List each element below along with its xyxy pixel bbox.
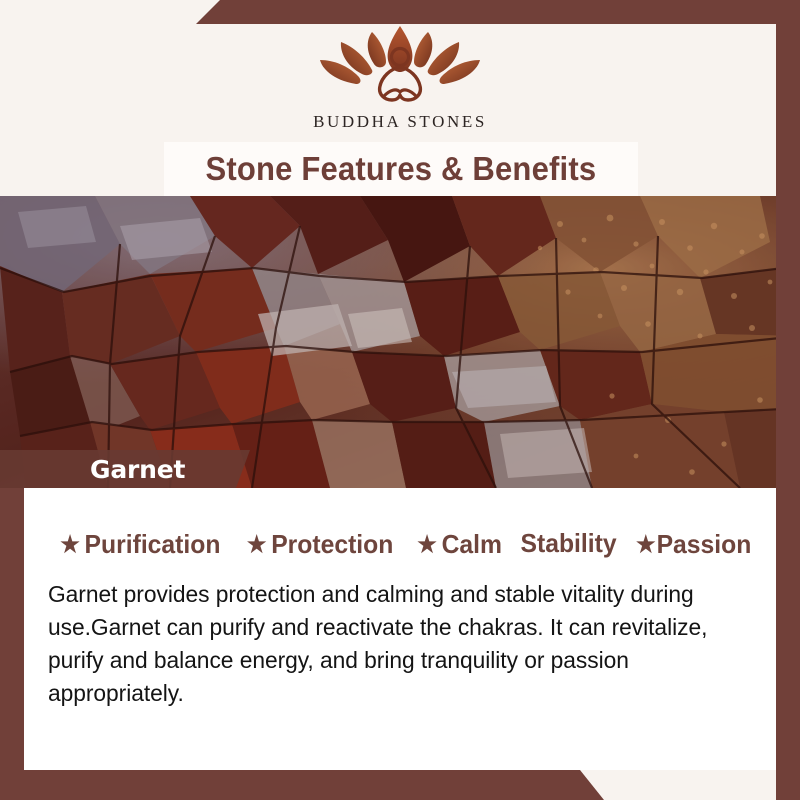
frame-bottom-bar [0,770,800,800]
feature-label: Stability [521,528,617,559]
lotus-meditation-icon [314,24,486,110]
stone-description: Garnet provides protection and calming a… [48,578,744,710]
feature-passion: ★Passion [636,529,751,560]
poster-root: BUDDHA STONES Stone Features & Benefits [0,0,800,800]
frame-left-bar [0,488,24,800]
content-panel: ★Purification ★Protection ★Calm Stabilit… [24,488,776,770]
feature-list: ★Purification ★Protection ★Calm Stabilit… [38,498,764,560]
star-icon: ★ [636,533,656,556]
feature-stability: Stability [521,528,617,559]
brand-name: BUDDHA STONES [313,112,487,132]
star-icon: ★ [60,533,80,556]
garnet-crystal-cluster-photo [0,196,800,488]
feature-label: Purification [85,529,221,560]
frame-right-bar [776,0,800,800]
star-icon: ★ [417,533,437,556]
feature-label: Passion [657,529,752,560]
stone-name-banner: Garnet [0,450,250,488]
feature-protection: ★Protection [246,529,392,560]
feature-label: Calm [441,529,501,560]
brand-logo-block: BUDDHA STONES [0,24,800,144]
feature-purification: ★Purification [60,529,220,560]
feature-calm: ★Calm [417,529,502,560]
feature-label: Protection [271,529,393,560]
star-icon: ★ [246,533,266,556]
frame-top-bar [0,0,800,24]
title-band: Stone Features & Benefits [164,142,638,196]
stone-name-label: Garnet [90,455,185,484]
page-title: Stone Features & Benefits [206,150,597,188]
